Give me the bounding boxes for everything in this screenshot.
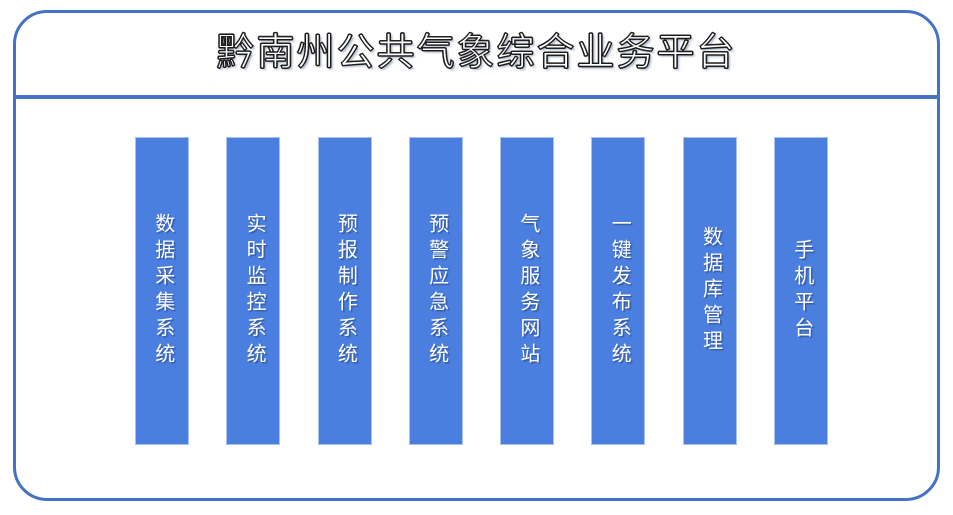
module-bar-mobile-platform[interactable]: 手机平台: [774, 137, 828, 445]
module-label: 一键发布系统: [605, 213, 633, 369]
module-label: 实时监控系统: [239, 213, 267, 369]
module-bar-weather-service-site[interactable]: 气象服务网站: [500, 137, 554, 445]
module-label: 手机平台: [787, 239, 815, 343]
module-label: 预警应急系统: [422, 213, 450, 369]
title-divider: [13, 95, 940, 99]
module-bar-one-click-publish[interactable]: 一键发布系统: [591, 137, 645, 445]
module-label: 数据库管理: [696, 226, 724, 356]
module-label: 数据采集系统: [148, 213, 176, 369]
platform-architecture-diagram: 黔南州公共气象综合业务平台 数据采集系统 实时监控系统 预报制作系统 预警应急系…: [0, 0, 953, 515]
module-bar-data-collection[interactable]: 数据采集系统: [135, 137, 189, 445]
module-bar-database-management[interactable]: 数据库管理: [683, 137, 737, 445]
module-bar-realtime-monitoring[interactable]: 实时监控系统: [226, 137, 280, 445]
module-label: 预报制作系统: [331, 213, 359, 369]
module-bar-warning-emergency[interactable]: 预警应急系统: [409, 137, 463, 445]
module-label: 气象服务网站: [513, 213, 541, 369]
module-bar-forecast-production[interactable]: 预报制作系统: [318, 137, 372, 445]
module-bars-row: 数据采集系统 实时监控系统 预报制作系统 预警应急系统 气象服务网站 一键发布系…: [135, 137, 828, 445]
